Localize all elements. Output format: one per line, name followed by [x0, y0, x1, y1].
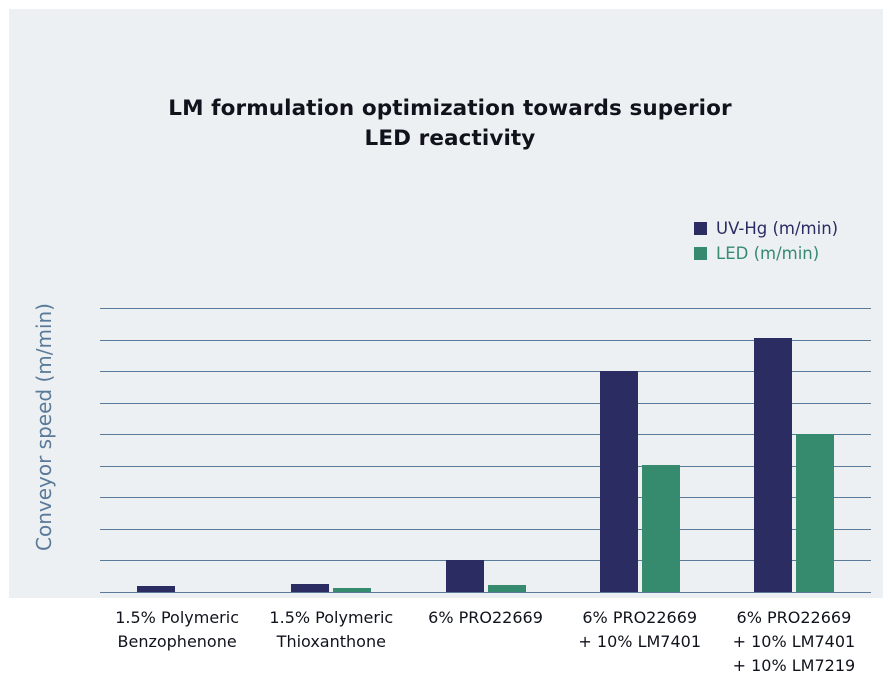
x-axis-category-label-line: + 10% LM7401	[719, 630, 869, 654]
x-axis-category-label: 6% PRO22669	[408, 606, 562, 678]
x-axis-category-label-line: + 10% LM7219	[719, 654, 869, 678]
chart-title: LM formulation optimization towards supe…	[60, 94, 840, 154]
bar-led[interactable]	[796, 434, 834, 592]
x-axis-category-label-line: 1.5% Polymeric	[102, 606, 252, 630]
legend-swatch-icon-uv-hg	[694, 222, 707, 235]
x-axis-category-label-line: 1.5% Polymeric	[256, 606, 406, 630]
bar-led[interactable]	[642, 465, 680, 592]
legend-item-uv-hg[interactable]: UV-Hg (m/min)	[694, 216, 874, 241]
plot-area: 454035302520151050	[100, 308, 871, 592]
bar-uv-hg[interactable]	[754, 338, 792, 592]
bar-group	[408, 308, 562, 592]
x-axis-category-label-line: Benzophenone	[102, 630, 252, 654]
bar-uv-hg[interactable]	[446, 560, 484, 592]
chart-legend: UV-Hg (m/min) LED (m/min)	[694, 216, 874, 266]
x-axis-category-label: 6% PRO22669+ 10% LM7401	[563, 606, 717, 678]
bar-group	[100, 308, 254, 592]
legend-swatch-icon-led	[694, 247, 707, 260]
x-axis-category-label: 6% PRO22669+ 10% LM7401+ 10% LM7219	[717, 606, 871, 678]
x-axis-category-label-line: 6% PRO22669	[719, 606, 869, 630]
y-axis-title: Conveyor speed (m/min)	[32, 262, 56, 592]
bar-group	[563, 308, 717, 592]
chart-title-line-1: LM formulation optimization towards supe…	[60, 94, 840, 124]
x-axis-category-label-line: 6% PRO22669	[410, 606, 560, 630]
x-axis-category-label-line: 6% PRO22669	[565, 606, 715, 630]
bar-chart: LM formulation optimization towards supe…	[0, 0, 883, 691]
bar-uv-hg[interactable]	[600, 371, 638, 592]
bar-group	[717, 308, 871, 592]
legend-label-uv-hg: UV-Hg (m/min)	[716, 219, 838, 238]
x-axis-labels: 1.5% PolymericBenzophenone1.5% Polymeric…	[100, 606, 871, 678]
legend-label-led: LED (m/min)	[716, 244, 819, 263]
legend-item-led[interactable]: LED (m/min)	[694, 241, 874, 266]
x-axis-line	[100, 592, 871, 594]
chart-title-line-2: LED reactivity	[60, 124, 840, 154]
x-axis-category-label: 1.5% PolymericBenzophenone	[100, 606, 254, 678]
bar-groups	[100, 308, 871, 592]
x-axis-category-label: 1.5% PolymericThioxanthone	[254, 606, 408, 678]
bar-group	[254, 308, 408, 592]
x-axis-category-label-line: + 10% LM7401	[565, 630, 715, 654]
x-axis-category-label-line: Thioxanthone	[256, 630, 406, 654]
